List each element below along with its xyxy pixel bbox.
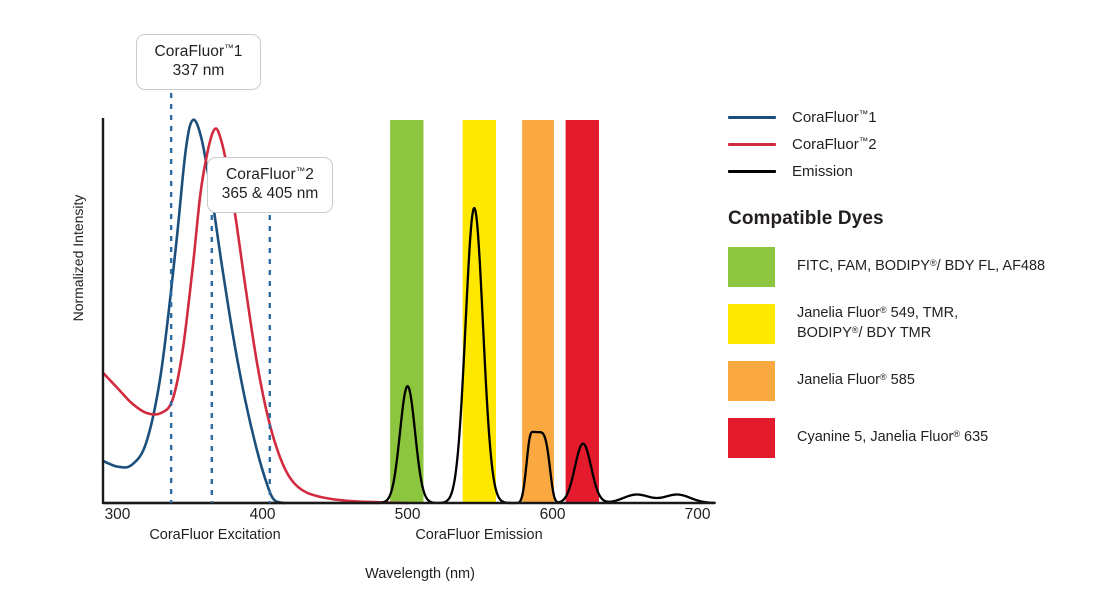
dye-item-label: Janelia Fluor® 585 <box>797 371 915 391</box>
xtick-700: 700 <box>668 506 728 524</box>
dye-color-swatch <box>728 361 775 401</box>
xtick-300: 300 <box>88 506 148 524</box>
dye-item-2: Janelia Fluor® 549, TMR,BODIPY®/ BDY TMR <box>728 304 1098 344</box>
dye-label-line1: Janelia Fluor® 549, TMR, <box>797 304 958 324</box>
dye-label-line1: FITC, FAM, BODIPY®/ BDY FL, AF488 <box>797 257 1045 277</box>
dye-label-line1: Cyanine 5, Janelia Fluor® 635 <box>797 428 988 448</box>
red-band <box>566 120 599 503</box>
legend-item-label: Emission <box>792 163 853 180</box>
compatible-dyes-title: Compatible Dyes <box>728 208 1098 230</box>
xtick-500: 500 <box>378 506 438 524</box>
dye-item-4: Cyanine 5, Janelia Fluor® 635 <box>728 418 1098 458</box>
callout-corafluor-2: CoraFluor™2 365 & 405 nm <box>207 157 333 213</box>
xtick-400: 400 <box>233 506 293 524</box>
legend-line-swatch <box>728 143 776 146</box>
legend: CoraFluor™1CoraFluor™2Emission <box>728 104 1098 185</box>
legend-item-1: CoraFluor™1 <box>728 104 1098 131</box>
dye-item-label: Janelia Fluor® 549, TMR,BODIPY®/ BDY TMR <box>797 304 958 343</box>
legend-item-label: CoraFluor™1 <box>792 109 877 126</box>
dye-item-label: FITC, FAM, BODIPY®/ BDY FL, AF488 <box>797 257 1045 277</box>
dye-color-swatch <box>728 304 775 344</box>
dye-label-line1: Janelia Fluor® 585 <box>797 371 915 391</box>
dye-item-3: Janelia Fluor® 585 <box>728 361 1098 401</box>
dye-label-line2: BODIPY®/ BDY TMR <box>797 324 958 344</box>
callout-corafluor-1: CoraFluor™1 337 nm <box>136 34 261 90</box>
xaxis-title: Wavelength (nm) <box>300 566 540 582</box>
orange-band <box>522 120 554 503</box>
dye-item-label: Cyanine 5, Janelia Fluor® 635 <box>797 428 988 448</box>
right-panel: CoraFluor™1CoraFluor™2Emission Compatibl… <box>728 104 1098 458</box>
yaxis-title: Normalized Intensity <box>70 168 86 348</box>
legend-item-3: Emission <box>728 158 1098 185</box>
dye-color-swatch <box>728 418 775 458</box>
dye-item-1: FITC, FAM, BODIPY®/ BDY FL, AF488 <box>728 247 1098 287</box>
green-band <box>390 120 423 503</box>
callout-1-line2: 337 nm <box>147 61 250 80</box>
compatible-dyes-list: FITC, FAM, BODIPY®/ BDY FL, AF488Janelia… <box>728 247 1098 458</box>
legend-item-2: CoraFluor™2 <box>728 131 1098 158</box>
dye-color-swatch <box>728 247 775 287</box>
callout-1-line1: CoraFluor™1 <box>147 42 250 61</box>
callout-2-line2: 365 & 405 nm <box>218 184 322 203</box>
axis-section-excitation: CoraFluor Excitation <box>140 527 290 543</box>
callout-2-line1: CoraFluor™2 <box>218 165 322 184</box>
legend-item-label: CoraFluor™2 <box>792 136 877 153</box>
legend-line-swatch <box>728 116 776 119</box>
axis-section-emission: CoraFluor Emission <box>404 527 554 543</box>
chart-figure: CoraFluor™1 337 nm CoraFluor™2 365 & 405… <box>0 0 1110 612</box>
xtick-600: 600 <box>523 506 583 524</box>
legend-line-swatch <box>728 170 776 173</box>
